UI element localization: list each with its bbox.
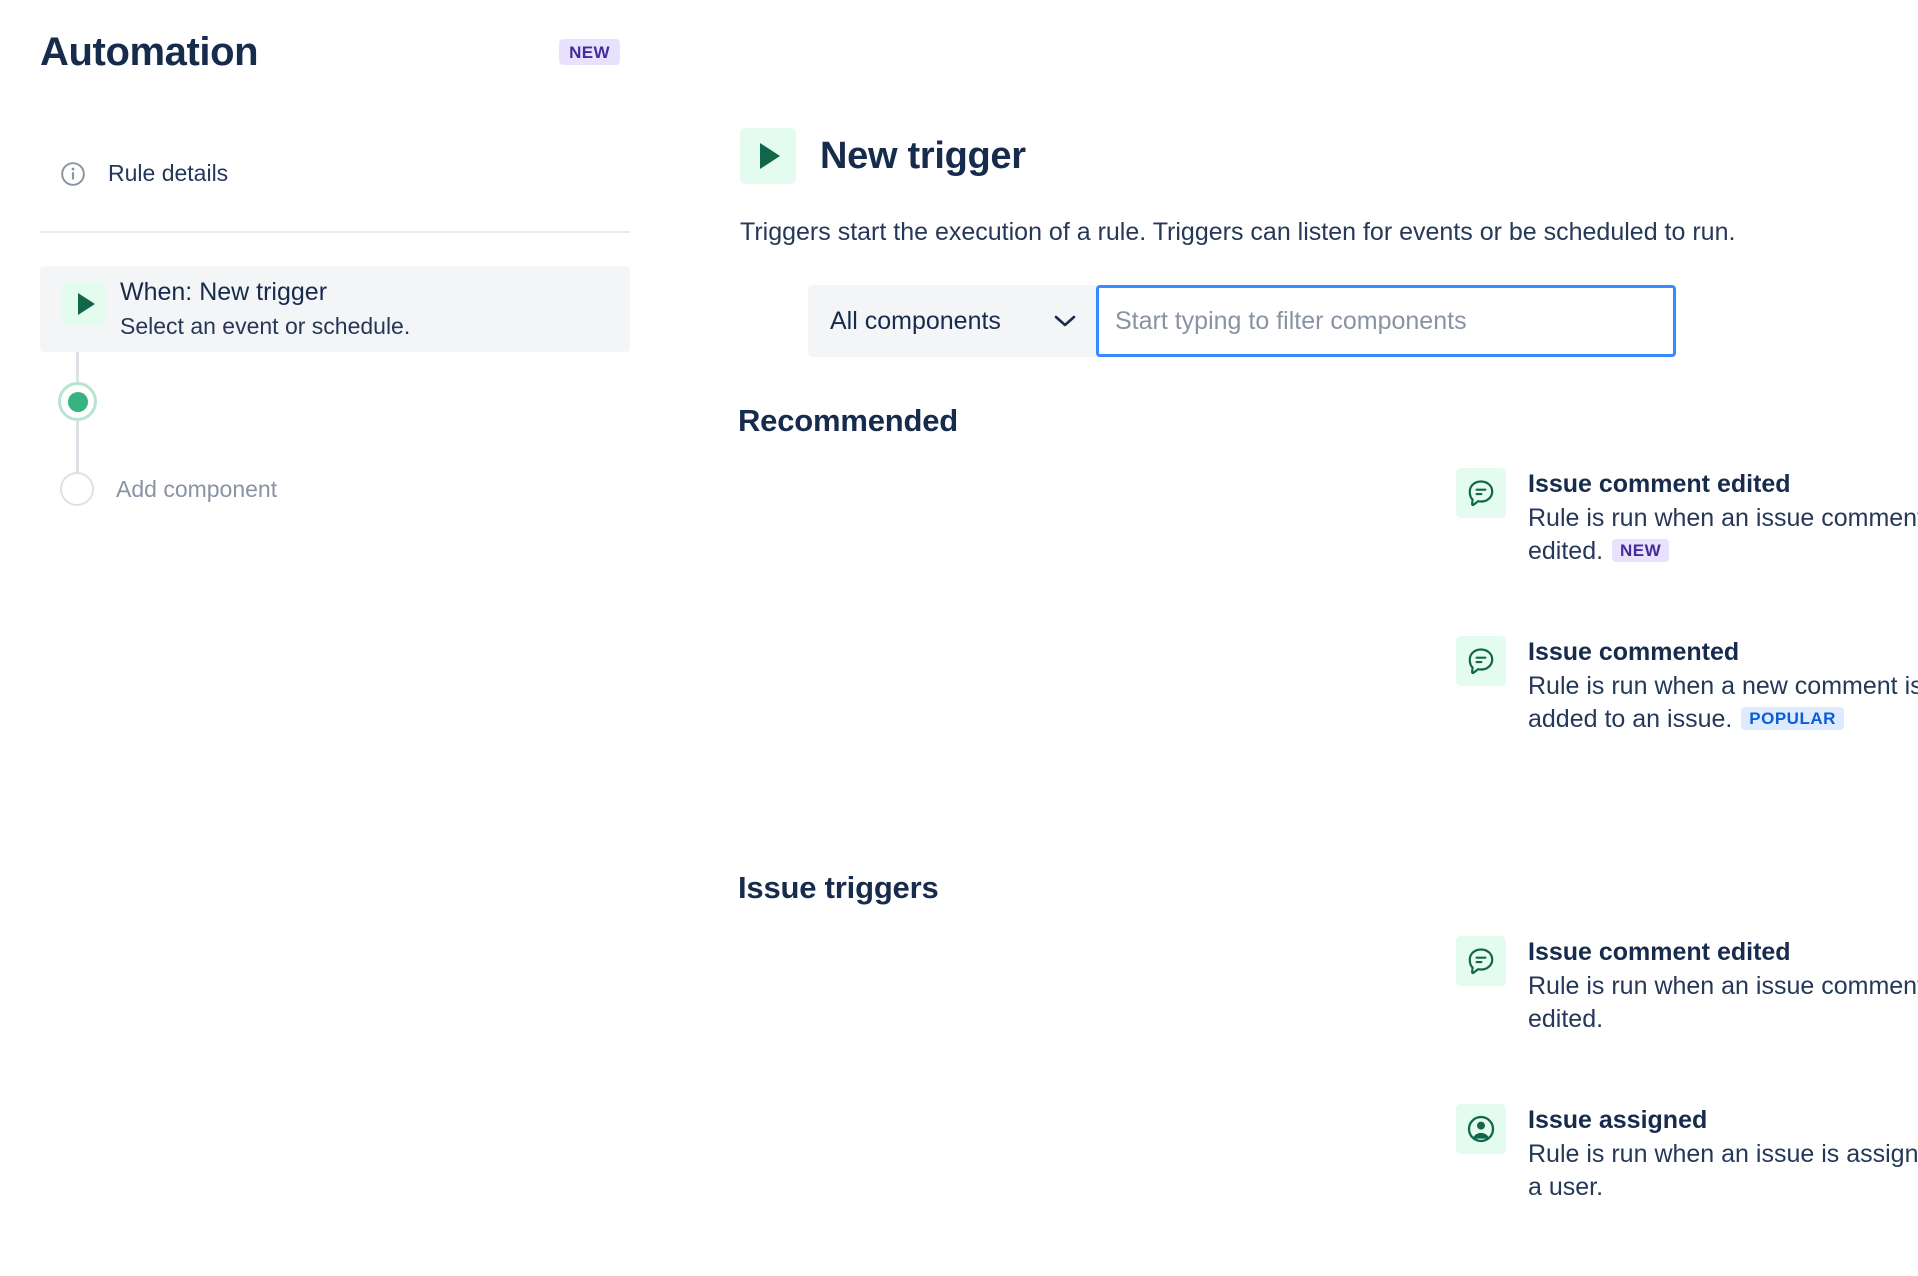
- when-trigger-title: When: New trigger: [120, 278, 327, 307]
- filter-toolbar: All components: [808, 285, 1676, 357]
- trigger-option-description: Rule is run when an issue comment is edi…: [1528, 970, 1918, 1036]
- trigger-option-description: Rule is run when an issue is assigned to…: [1528, 1138, 1918, 1204]
- trigger-option-description: Rule is run when a new comment is added …: [1528, 670, 1918, 736]
- section-heading-issue-triggers: Issue triggers: [738, 870, 939, 906]
- person-icon: [1456, 1104, 1506, 1154]
- sidebar-header: Automation NEW: [40, 22, 620, 82]
- timeline-dot-active[interactable]: [58, 382, 97, 421]
- trigger-option-text: Issue comment editedRule is run when an …: [1528, 468, 1918, 568]
- rule-builder-sidebar: Automation NEW Rule details When: New tr…: [0, 0, 660, 1276]
- trigger-grid-cell: Issue commentedRule is run when a new co…: [1450, 630, 1918, 758]
- trigger-option-name: Issue comment edited: [1528, 468, 1918, 500]
- sidebar-item-label: Rule details: [108, 160, 228, 187]
- trigger-option-issue-assigned[interactable]: Issue assignedRule is run when an issue …: [1450, 1098, 1918, 1210]
- play-icon: [62, 282, 106, 326]
- trigger-picker-panel: New trigger Triggers start the execution…: [660, 0, 1918, 1276]
- comment-icon: [1456, 636, 1506, 686]
- trigger-grid-recommended: Issue comment editedRule is run when an …: [1450, 462, 1918, 758]
- add-component-button[interactable]: Add component: [116, 476, 277, 503]
- sidebar-item-rule-details[interactable]: Rule details: [60, 160, 228, 187]
- timeline-dot-add[interactable]: [60, 472, 94, 506]
- chevron-down-icon: [1054, 314, 1076, 328]
- trigger-option-name: Issue assigned: [1528, 1104, 1918, 1136]
- trigger-option-issue-commented[interactable]: Issue commentedRule is run when a new co…: [1450, 630, 1918, 742]
- page-title: Automation: [40, 32, 258, 72]
- timeline-dot-inner: [68, 392, 88, 412]
- comment-icon: [1456, 468, 1506, 518]
- trigger-option-text: Issue commentedRule is run when a new co…: [1528, 636, 1918, 736]
- sidebar-divider: [40, 231, 630, 233]
- info-icon: [60, 161, 86, 187]
- trigger-option-text: Issue assignedRule is run when an issue …: [1528, 1104, 1918, 1204]
- trigger-option-issue-comment-edited[interactable]: Issue comment editedRule is run when an …: [1450, 462, 1918, 574]
- trigger-option-description: Rule is run when an issue comment is edi…: [1528, 502, 1918, 568]
- when-trigger-subtitle: Select an event or schedule.: [120, 313, 410, 340]
- automation-trigger-picker-page: Automation NEW Rule details When: New tr…: [0, 0, 1918, 1276]
- trigger-grid-cell: Issue comment editedRule is run when an …: [1450, 930, 1918, 1098]
- section-heading-recommended: Recommended: [738, 403, 958, 439]
- sidebar-item-when-new-trigger[interactable]: When: New trigger Select an event or sch…: [40, 266, 630, 352]
- panel-header: New trigger: [740, 128, 1026, 184]
- status-badge-popular: POPULAR: [1741, 707, 1844, 730]
- panel-description: Triggers start the execution of a rule. …: [740, 218, 1735, 247]
- comment-icon: [1456, 936, 1506, 986]
- status-badge-new: NEW: [559, 39, 620, 65]
- trigger-option-issue-comment-edited[interactable]: Issue comment editedRule is run when an …: [1450, 930, 1918, 1042]
- panel-title: New trigger: [820, 137, 1026, 175]
- trigger-option-name: Issue commented: [1528, 636, 1918, 668]
- trigger-option-text: Issue comment editedRule is run when an …: [1528, 936, 1918, 1036]
- component-type-select[interactable]: All components: [808, 285, 1098, 357]
- trigger-grid-cell: Issue comment editedRule is run when an …: [1450, 462, 1918, 630]
- trigger-option-name: Issue comment edited: [1528, 936, 1918, 968]
- component-type-select-value: All components: [830, 307, 1001, 336]
- trigger-grid-cell: Issue assignedRule is run when an issue …: [1450, 1098, 1918, 1210]
- status-badge-new: NEW: [1612, 539, 1669, 562]
- trigger-grid-issue: Issue comment editedRule is run when an …: [1450, 930, 1918, 1210]
- play-icon: [740, 128, 796, 184]
- search-input[interactable]: [1096, 285, 1676, 357]
